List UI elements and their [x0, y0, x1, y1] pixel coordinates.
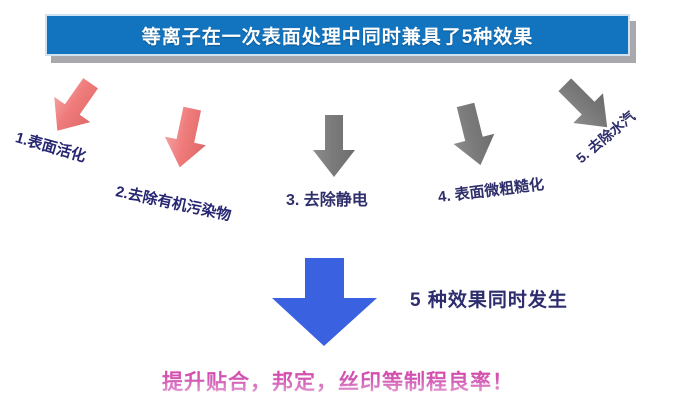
- step-2-arrow: [159, 104, 213, 171]
- conclusion-text: 提升贴合，邦定，丝印等制程良率！: [0, 366, 676, 396]
- step-1-arrow: [39, 71, 108, 144]
- title-banner-body: 等离子在一次表面处理中同时兼具了5种效果: [45, 14, 630, 56]
- slide-canvas: 等离子在一次表面处理中同时兼具了5种效果 1.表面活化: [0, 0, 676, 416]
- step-4-arrow: [445, 100, 501, 170]
- step-4-label: 4. 表面微粗糙化: [437, 173, 545, 207]
- step-2-label: 2.去除有机污染物: [114, 180, 233, 225]
- title-banner: 等离子在一次表面处理中同时兼具了5种效果: [45, 14, 630, 56]
- step-3-label: 3. 去除静电: [286, 186, 368, 210]
- step-3-arrow: [313, 115, 355, 177]
- result-text: 5 种效果同时发生: [410, 285, 568, 312]
- big-blue-arrow: [272, 258, 377, 346]
- page-title: 等离子在一次表面处理中同时兼具了5种效果: [142, 22, 534, 49]
